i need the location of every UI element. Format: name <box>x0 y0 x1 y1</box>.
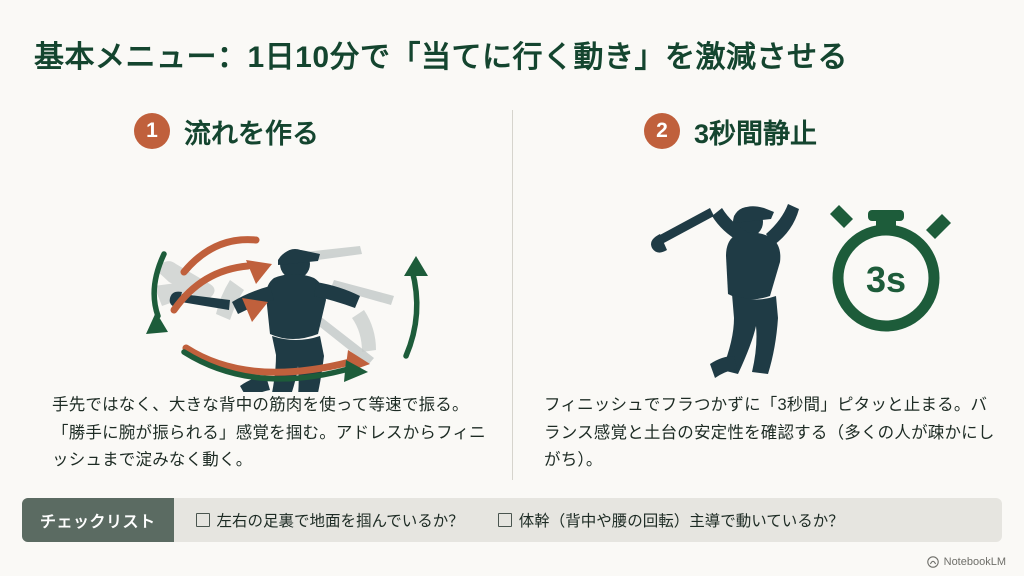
column-2-header: 2 3秒間静止 <box>534 108 1004 154</box>
checklist-item[interactable]: 左右の足裏で地面を掴んでいるか？ <box>196 509 464 531</box>
checklist-label: チェックリスト <box>22 498 174 542</box>
column-1-header: 1 流れを作る <box>34 108 504 154</box>
column-2-title: 3秒間静止 <box>694 112 817 151</box>
notebooklm-logo-icon <box>927 556 939 568</box>
checklist-bar: チェックリスト 左右の足裏で地面を掴んでいるか？ 体幹（背中や腰の回転）主導で動… <box>22 498 1002 542</box>
checklist-items: 左右の足裏で地面を掴んでいるか？ 体幹（背中や腰の回転）主導で動いているか？ <box>174 509 844 531</box>
checkbox-icon[interactable] <box>498 513 512 527</box>
page-title: 基本メニュー：1日10分で「当てに行く動き」を激減させる <box>34 32 848 76</box>
checklist-item[interactable]: 体幹（背中や腰の回転）主導で動いているか？ <box>498 509 844 531</box>
checkbox-icon[interactable] <box>196 513 210 527</box>
step-number-badge: 2 <box>644 113 680 149</box>
step-number-badge: 1 <box>134 113 170 149</box>
brand-watermark: NotebookLM <box>927 556 1006 568</box>
column-2: 2 3秒間静止 <box>534 108 1004 483</box>
column-1-title: 流れを作る <box>184 112 319 151</box>
column-1: 1 流れを作る <box>34 108 504 483</box>
column-divider <box>512 110 513 480</box>
slide: 基本メニュー：1日10分で「当てに行く動き」を激減させる 1 流れを作る <box>0 0 1024 576</box>
golfer-swing-arc-icon <box>34 160 504 392</box>
checklist-item-label: 体幹（背中や腰の回転）主導で動いているか？ <box>519 509 844 531</box>
checklist-item-label: 左右の足裏で地面を掴んでいるか？ <box>217 509 464 531</box>
column-1-caption: 手先ではなく、大きな背中の筋肉を使って等速で振る。「勝手に腕が振られる」感覚を掴… <box>52 392 492 475</box>
svg-text:3s: 3s <box>866 259 906 300</box>
column-2-caption: フィニッシュでフラつかずに「3秒間」ピタッと止まる。バランス感覚と土台の安定性を… <box>544 392 999 475</box>
golfer-finish-stopwatch-icon: 3s <box>534 160 1004 392</box>
brand-name: NotebookLM <box>944 556 1006 568</box>
